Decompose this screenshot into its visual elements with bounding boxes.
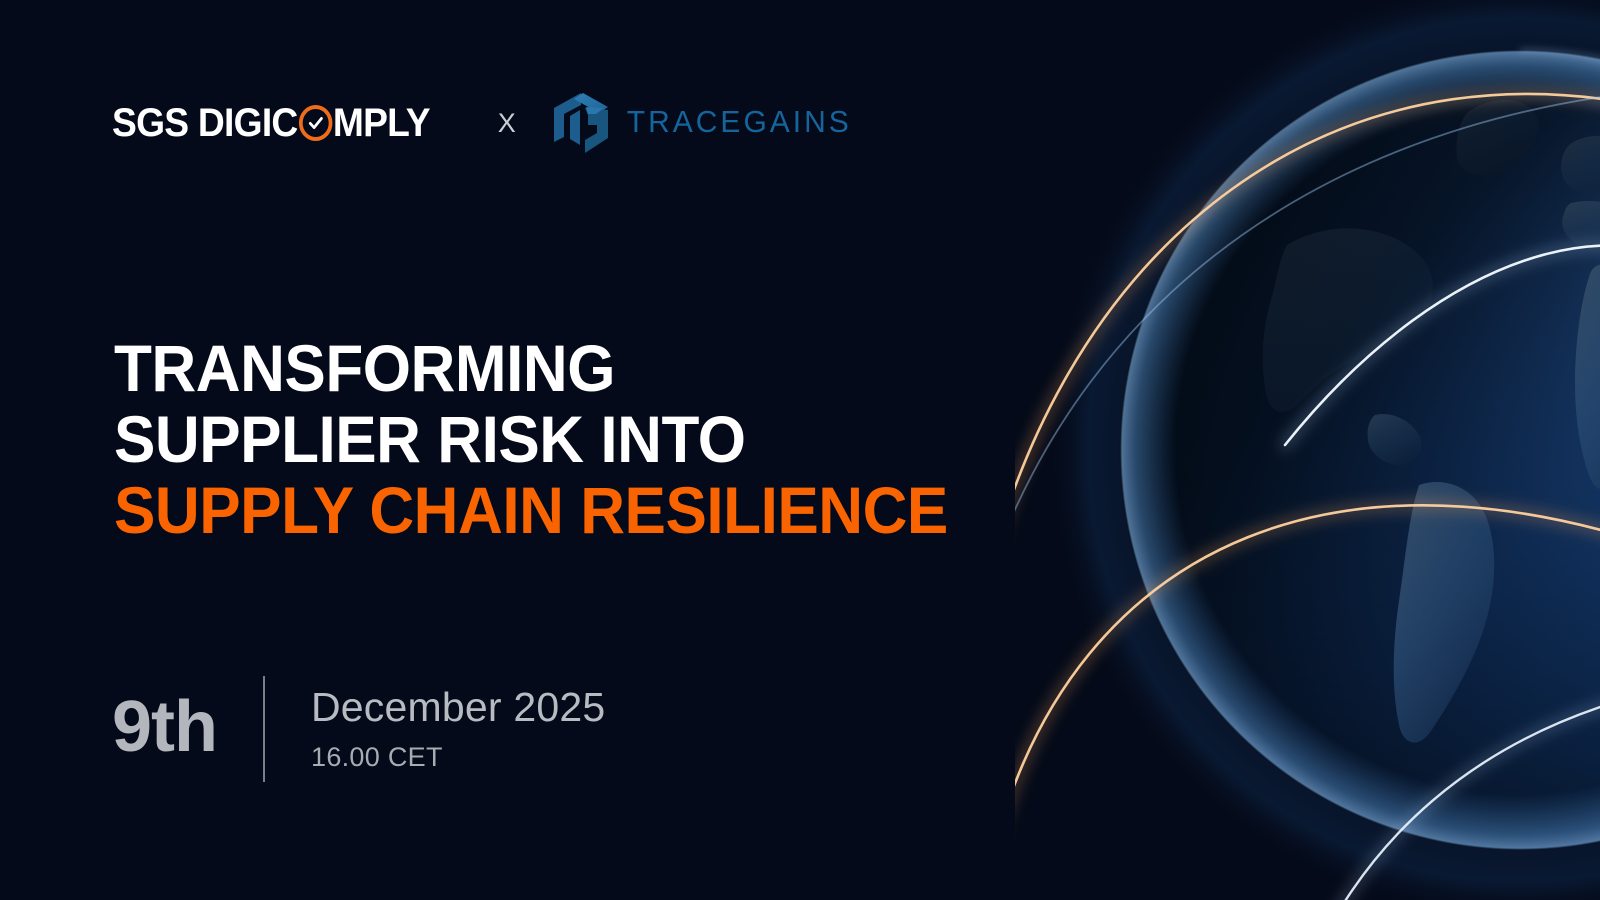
sgs-digicomply-logo[interactable]: SGS DIGIC MPLY [112,103,430,143]
event-date-text: December 2025 16.00 CET [265,668,605,786]
headline-line-3: SUPPLY CHAIN RESILIENCE [114,475,960,546]
event-day: 9th [112,668,263,786]
banner-stage: SGS DIGIC MPLY X [0,0,1600,900]
orange-circle-check-icon [298,105,331,141]
logo-row: SGS DIGIC MPLY X [112,92,852,154]
headline-line-1: TRANSFORMING [114,333,960,404]
globe-network-illustration [1015,0,1600,900]
tracegains-wordmark: TRACEGAINS [627,108,852,139]
headline-line-2: SUPPLIER RISK INTO [114,404,960,475]
date-divider [263,676,265,782]
sgs-logo-text-before: SGS DIGIC [112,103,298,143]
tracegains-hexagon-cube-icon [552,92,610,154]
page-title: TRANSFORMING SUPPLIER RISK INTO SUPPLY C… [114,333,960,546]
logo-separator: X [498,110,516,137]
event-month-year: December 2025 [311,685,605,729]
tracegains-logo[interactable]: TRACEGAINS [552,92,852,154]
event-date-block: 9th December 2025 16.00 CET [112,668,605,786]
sgs-logo-text-after: MPLY [333,103,430,143]
event-time: 16.00 CET [311,743,605,773]
